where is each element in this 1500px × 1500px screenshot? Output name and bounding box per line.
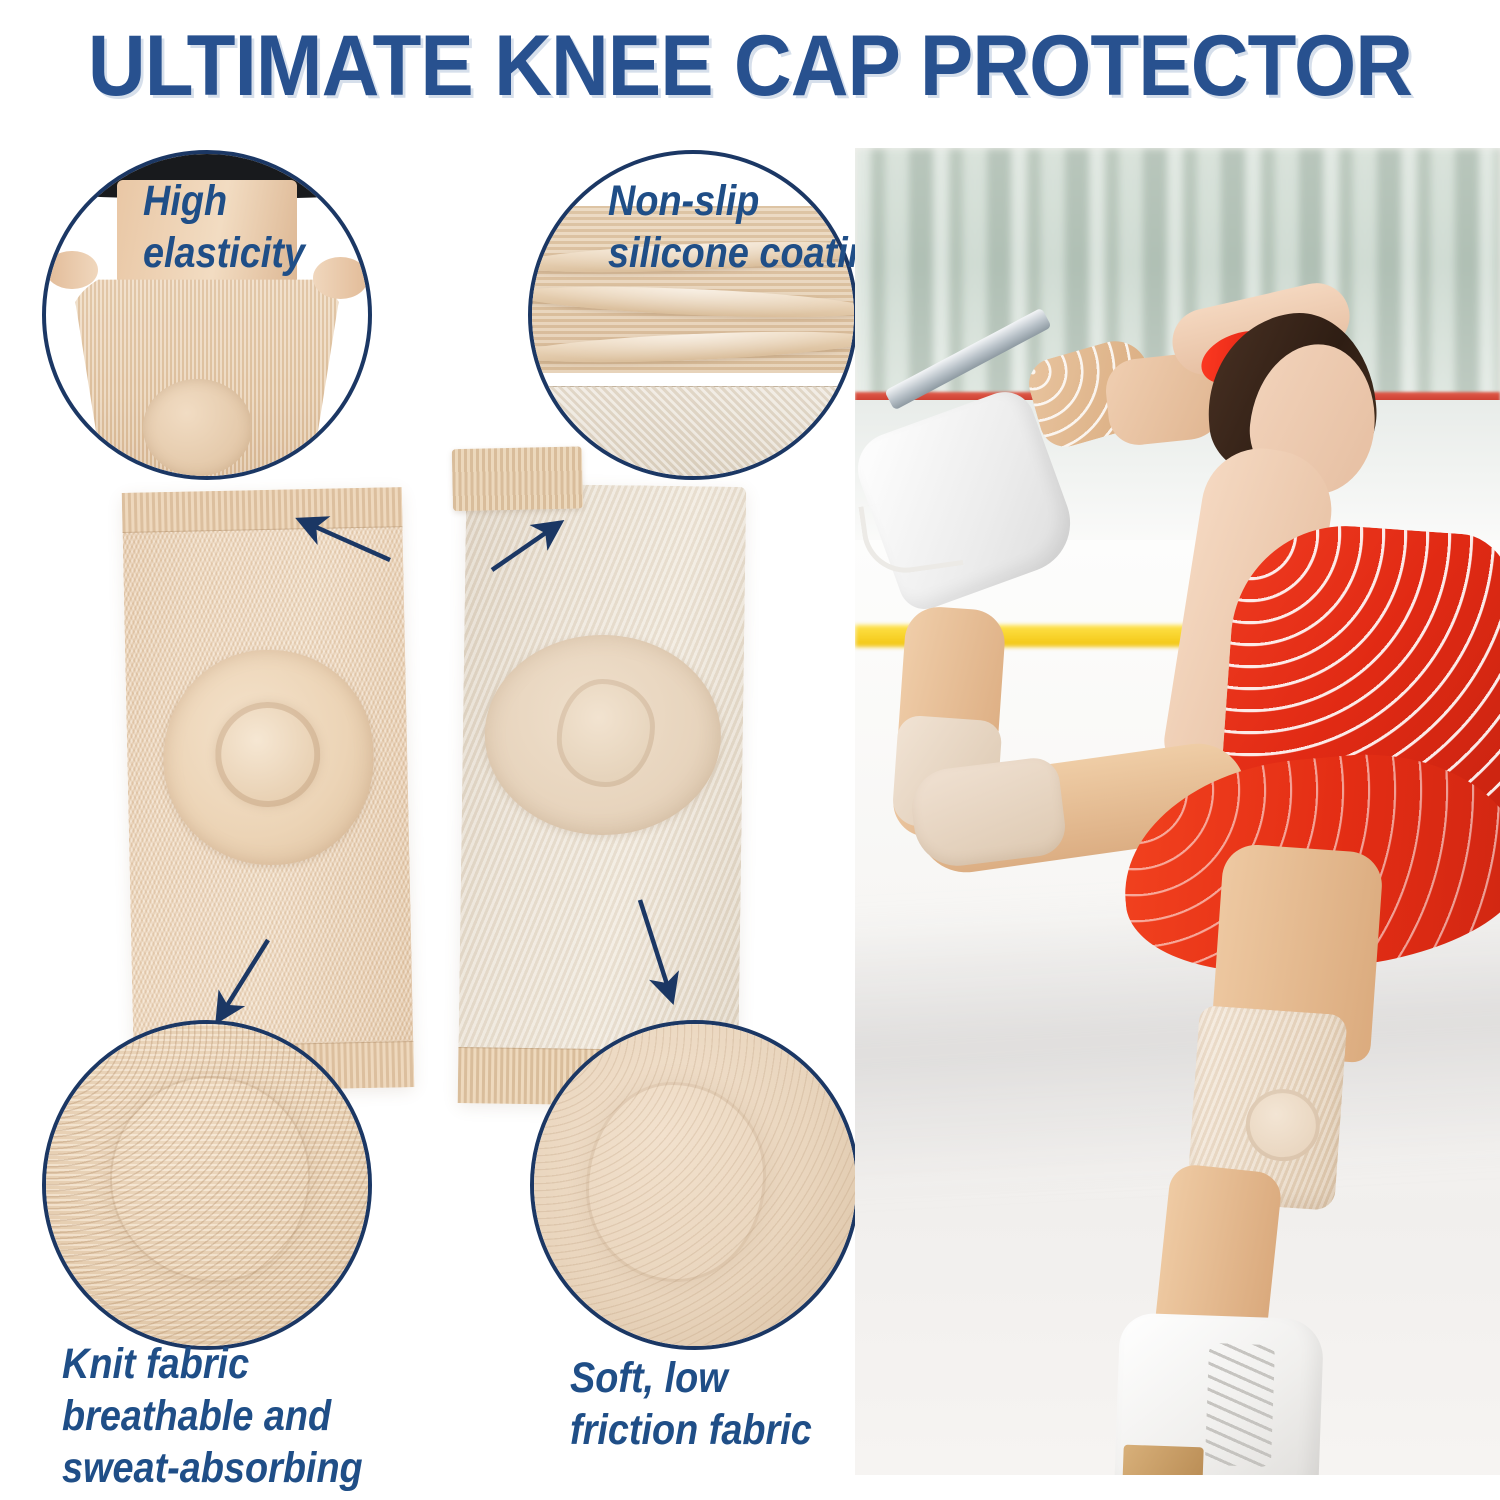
- finger-left-detail: [46, 251, 98, 290]
- arrow-to-elasticity-icon: [300, 520, 390, 560]
- caption-non-slip-silicone: Non-slip silicone coating: [608, 175, 894, 279]
- knee-pad-bump-detail: [143, 379, 252, 476]
- callout-circle-knit-fabric: [42, 1020, 372, 1350]
- page-title: ULTIMATE KNEE CAP PROTECTOR: [53, 18, 1448, 114]
- arrow-to-knit-icon: [218, 940, 268, 1020]
- arrow-to-soft-icon: [640, 900, 672, 1000]
- caption-high-elasticity: High elasticity: [143, 175, 305, 279]
- arrow-to-silicone-icon: [492, 523, 560, 570]
- knit-pad-edge-detail: [110, 1076, 310, 1282]
- standing-skate-laces: [1205, 1343, 1275, 1467]
- finger-right-detail: [313, 257, 368, 299]
- sleeve-body-detail: [532, 386, 854, 476]
- figure-skater-photo: [855, 148, 1500, 1475]
- standing-skate-heel: [1122, 1445, 1203, 1475]
- free-leg-knee-sleeve: [908, 755, 1069, 871]
- infographic-page: ULTIMATE KNEE CAP PROTECTOR: [0, 0, 1500, 1500]
- callout-circle-soft-low-friction: [530, 1020, 860, 1350]
- caption-soft-low-friction: Soft, low friction fabric: [570, 1352, 812, 1456]
- caption-knit-fabric: Knit fabric breathable and sweat-absorbi…: [62, 1338, 363, 1494]
